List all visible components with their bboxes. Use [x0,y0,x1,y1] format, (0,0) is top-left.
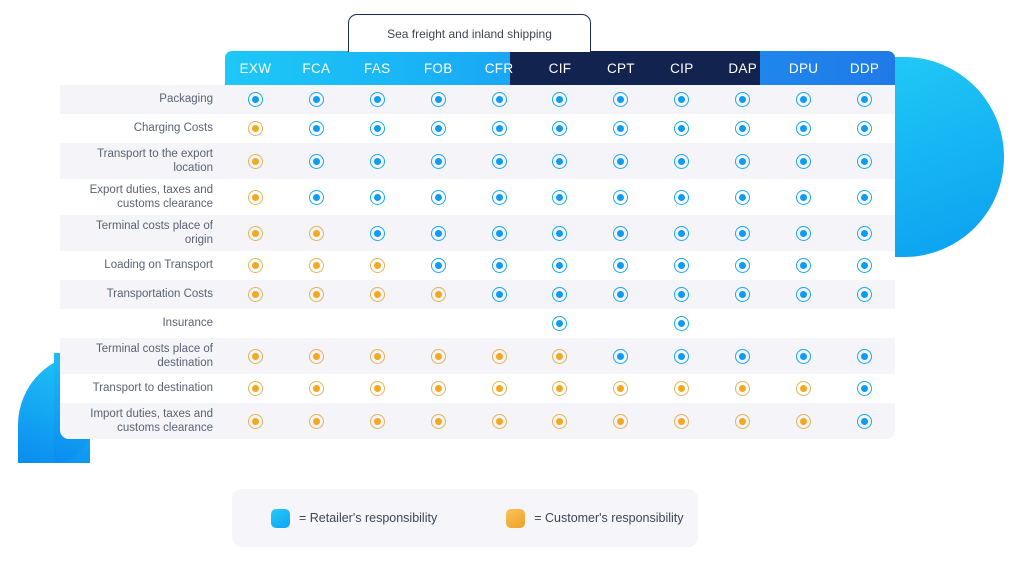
table-row: Packaging [60,85,895,114]
retailer-dot-icon [370,92,385,107]
retailer-dot-icon [552,154,567,169]
responsibility-table: EXWFCAFASFOBCFRCIFCPTCIPDAPDPUDDP Packag… [60,51,895,439]
row-cells [225,143,895,179]
legend-customer-label: = Customer's responsibility [534,511,683,525]
customer-dot-icon [552,349,567,364]
cell-fca [286,114,347,143]
retailer-dot-icon [248,92,263,107]
column-header-cif[interactable]: CIF [530,51,591,85]
cell-cif [530,143,591,179]
cell-cip [651,215,712,251]
retailer-dot-icon [552,92,567,107]
row-cells [225,85,895,114]
retailer-dot-icon [674,92,689,107]
customer-dot-icon [248,414,263,429]
retailer-dot-icon [552,287,567,302]
retailer-dot-icon [431,190,446,205]
retailer-dot-icon [552,226,567,241]
cell-dap [712,85,773,114]
retailer-dot-icon [857,190,872,205]
customer-dot-icon [735,414,750,429]
table-body: PackagingCharging CostsTransport to the … [60,85,895,439]
retailer-dot-icon [492,154,507,169]
cell-fca [286,338,347,374]
legend-item-customer: = Customer's responsibility [506,509,683,528]
customer-dot-icon [796,381,811,396]
retailer-dot-icon [857,121,872,136]
cell-fas [347,374,408,403]
column-header-cip[interactable]: CIP [651,51,712,85]
cell-fas [347,143,408,179]
customer-dot-icon [248,349,263,364]
cell-fob [408,85,469,114]
cell-cfr [469,309,530,338]
legend-retailer-label: = Retailer's responsibility [299,511,437,525]
cell-dpu [773,309,834,338]
cell-fas [347,114,408,143]
retailer-dot-icon [674,121,689,136]
cell-fca [286,179,347,215]
cell-ddp [834,114,895,143]
retailer-dot-icon [492,226,507,241]
retailer-dot-icon [492,92,507,107]
cell-cif [530,309,591,338]
retailer-dot-icon [857,258,872,273]
table-row: Insurance [60,309,895,338]
row-cells [225,280,895,309]
cell-cif [530,114,591,143]
cell-fas [347,309,408,338]
row-label: Terminal costs place of origin [60,215,225,251]
cell-dap [712,309,773,338]
retailer-dot-icon [370,154,385,169]
retailer-dot-icon [492,190,507,205]
cell-fob [408,215,469,251]
cell-dpu [773,85,834,114]
column-header-fca[interactable]: FCA [286,51,347,85]
cell-cpt [590,338,651,374]
cell-cif [530,215,591,251]
retailer-dot-icon [735,190,750,205]
cell-fob [408,280,469,309]
table-header-row: EXWFCAFASFOBCFRCIFCPTCIPDAPDPUDDP [60,51,895,85]
customer-dot-icon [492,349,507,364]
cell-cpt [590,143,651,179]
retailer-dot-icon [431,154,446,169]
row-label: Loading on Transport [60,251,225,280]
customer-dot-icon [309,258,324,273]
retailer-dot-icon [552,258,567,273]
customer-dot-icon [431,287,446,302]
cell-cpt [590,280,651,309]
customer-dot-icon [431,349,446,364]
cell-fca [286,280,347,309]
customer-dot-icon [492,414,507,429]
row-label: Export duties, taxes and customs clearan… [60,179,225,215]
cell-cip [651,280,712,309]
cell-fas [347,251,408,280]
cell-dap [712,338,773,374]
retailer-dot-icon [735,258,750,273]
cell-fob [408,114,469,143]
retailer-dot-icon [857,287,872,302]
retailer-dot-icon [735,121,750,136]
retailer-dot-icon [857,92,872,107]
retailer-dot-icon [613,226,628,241]
cell-cif [530,403,591,439]
cell-cip [651,251,712,280]
retailer-dot-icon [857,381,872,396]
row-label: Transport to the export location [60,143,225,179]
cell-ddp [834,280,895,309]
sea-freight-callout-label: Sea freight and inland shipping [387,27,552,41]
row-label: Transport to destination [60,374,225,403]
cell-dap [712,403,773,439]
row-label: Import duties, taxes and customs clearan… [60,403,225,439]
cell-cfr [469,215,530,251]
column-header-ddp[interactable]: DDP [834,51,895,85]
table-row: Export duties, taxes and customs clearan… [60,179,895,215]
cell-exw [225,85,286,114]
table-row: Terminal costs place of origin [60,215,895,251]
row-cells [225,215,895,251]
cell-cpt [590,114,651,143]
cell-cfr [469,179,530,215]
cell-exw [225,215,286,251]
retailer-dot-icon [674,349,689,364]
retailer-dot-icon [613,121,628,136]
cell-exw [225,179,286,215]
cell-dap [712,179,773,215]
cell-exw [225,251,286,280]
column-header-cpt[interactable]: CPT [590,51,651,85]
cell-cip [651,309,712,338]
cell-exw [225,338,286,374]
cell-dap [712,374,773,403]
cell-fob [408,338,469,374]
column-header-fas[interactable]: FAS [347,51,408,85]
customer-dot-icon [431,414,446,429]
cell-cif [530,179,591,215]
cell-ddp [834,251,895,280]
cell-fas [347,403,408,439]
cell-fob [408,179,469,215]
customer-dot-icon [796,414,811,429]
retailer-dot-icon [735,154,750,169]
cell-cpt [590,215,651,251]
cell-cip [651,374,712,403]
cell-dap [712,114,773,143]
row-cells [225,338,895,374]
customer-dot-icon [552,414,567,429]
retailer-dot-icon [674,287,689,302]
cell-cip [651,179,712,215]
customer-dot-icon [370,381,385,396]
table-row: Transport to the export location [60,143,895,179]
cell-cfr [469,403,530,439]
customer-dot-icon [370,414,385,429]
cell-dap [712,215,773,251]
table-row: Loading on Transport [60,251,895,280]
cell-fob [408,403,469,439]
retailer-dot-icon [370,121,385,136]
cell-ddp [834,179,895,215]
row-cells [225,374,895,403]
cell-cpt [590,179,651,215]
retailer-dot-icon [857,154,872,169]
cell-cfr [469,251,530,280]
row-cells [225,179,895,215]
cell-cfr [469,374,530,403]
cell-cfr [469,338,530,374]
customer-dot-icon [431,381,446,396]
cell-dap [712,280,773,309]
cell-fob [408,309,469,338]
legend: = Retailer's responsibility = Customer's… [232,489,698,547]
retailer-dot-icon [857,414,872,429]
cell-ddp [834,143,895,179]
row-cells [225,251,895,280]
cell-fca [286,309,347,338]
retailer-dot-icon [735,92,750,107]
column-header-fob[interactable]: FOB [408,51,469,85]
retailer-dot-icon [796,190,811,205]
table-row: Transportation Costs [60,280,895,309]
retailer-dot-icon [796,226,811,241]
retailer-dot-icon [309,92,324,107]
row-label: Transportation Costs [60,280,225,309]
cell-dpu [773,374,834,403]
retailer-dot-icon [735,287,750,302]
retailer-dot-icon [674,190,689,205]
cell-cif [530,280,591,309]
retailer-dot-icon [613,154,628,169]
cell-fob [408,374,469,403]
cell-ddp [834,85,895,114]
incoterm-header-bar: EXWFCAFASFOBCFRCIFCPTCIPDAPDPUDDP [225,51,895,85]
cell-cip [651,338,712,374]
customer-dot-icon [370,349,385,364]
retailer-dot-icon [674,258,689,273]
table-row: Terminal costs place of destination [60,338,895,374]
customer-dot-icon [309,381,324,396]
cell-fca [286,403,347,439]
retailer-dot-icon [552,121,567,136]
retailer-dot-icon [796,92,811,107]
row-label: Insurance [60,309,225,338]
column-header-cfr[interactable]: CFR [469,51,530,85]
cell-ddp [834,309,895,338]
customer-dot-icon [309,287,324,302]
header-label-spacer [60,51,225,85]
cell-cip [651,143,712,179]
retailer-dot-icon [796,349,811,364]
cell-cif [530,338,591,374]
row-label: Packaging [60,85,225,114]
retailer-dot-icon [431,258,446,273]
retailer-dot-icon [309,121,324,136]
customer-dot-icon [248,226,263,241]
cell-fca [286,143,347,179]
cell-exw [225,143,286,179]
cell-ddp [834,215,895,251]
row-label: Charging Costs [60,114,225,143]
customer-dot-icon [248,190,263,205]
retailer-dot-icon [309,190,324,205]
retailer-dot-icon [613,287,628,302]
cell-exw [225,280,286,309]
retailer-dot-icon [370,226,385,241]
cell-fas [347,280,408,309]
customer-dot-icon [552,381,567,396]
column-header-dap[interactable]: DAP [712,51,773,85]
customer-dot-icon [248,258,263,273]
retailer-dot-icon [492,258,507,273]
cell-exw [225,374,286,403]
cell-cif [530,251,591,280]
customer-dot-icon [370,258,385,273]
cell-exw [225,309,286,338]
customer-dot-icon [309,349,324,364]
cell-ddp [834,338,895,374]
cell-cfr [469,280,530,309]
retailer-dot-icon [796,154,811,169]
retailer-dot-icon [492,121,507,136]
cell-dpu [773,179,834,215]
retailer-dot-icon [613,349,628,364]
cell-exw [225,403,286,439]
retailer-dot-icon [552,190,567,205]
retailer-swatch-icon [271,509,290,528]
retailer-dot-icon [796,121,811,136]
cell-ddp [834,403,895,439]
retailer-dot-icon [735,226,750,241]
cell-fas [347,179,408,215]
retailer-dot-icon [613,258,628,273]
retailer-dot-icon [613,92,628,107]
retailer-dot-icon [674,316,689,331]
cell-fca [286,374,347,403]
cell-exw [225,114,286,143]
cell-cpt [590,374,651,403]
retailer-dot-icon [857,226,872,241]
row-cells [225,114,895,143]
retailer-dot-icon [857,349,872,364]
customer-dot-icon [613,414,628,429]
retailer-dot-icon [370,190,385,205]
customer-dot-icon [248,381,263,396]
customer-dot-icon [248,287,263,302]
table-row: Charging Costs [60,114,895,143]
cell-dpu [773,338,834,374]
retailer-dot-icon [674,154,689,169]
row-cells [225,309,895,338]
customer-dot-icon [735,381,750,396]
customer-dot-icon [492,381,507,396]
cell-fca [286,85,347,114]
cell-cip [651,85,712,114]
row-label: Terminal costs place of destination [60,338,225,374]
cell-fas [347,85,408,114]
cell-dpu [773,215,834,251]
cell-fob [408,143,469,179]
row-cells [225,403,895,439]
customer-dot-icon [248,121,263,136]
cell-cpt [590,251,651,280]
cell-cfr [469,85,530,114]
cell-fas [347,338,408,374]
cell-fca [286,251,347,280]
retailer-dot-icon [492,287,507,302]
cell-fob [408,251,469,280]
decorative-blob-right [892,57,1004,257]
retailer-dot-icon [431,121,446,136]
cell-dpu [773,143,834,179]
retailer-dot-icon [796,258,811,273]
customer-dot-icon [309,414,324,429]
column-header-exw[interactable]: EXW [225,51,286,85]
retailer-dot-icon [431,92,446,107]
legend-item-retailer: = Retailer's responsibility [271,509,437,528]
cell-cpt [590,309,651,338]
customer-dot-icon [309,226,324,241]
cell-fas [347,215,408,251]
cell-cfr [469,114,530,143]
customer-dot-icon [248,154,263,169]
cell-cif [530,374,591,403]
retailer-dot-icon [309,154,324,169]
cell-cif [530,85,591,114]
cell-fca [286,215,347,251]
retailer-dot-icon [552,316,567,331]
cell-dpu [773,114,834,143]
retailer-dot-icon [613,190,628,205]
cell-dpu [773,403,834,439]
customer-swatch-icon [506,509,525,528]
incoterms-chart: Sea freight and inland shipping EXWFCAFA… [0,0,1024,567]
customer-dot-icon [613,381,628,396]
retailer-dot-icon [674,226,689,241]
retailer-dot-icon [796,287,811,302]
cell-cpt [590,85,651,114]
retailer-dot-icon [735,349,750,364]
sea-freight-callout: Sea freight and inland shipping [348,14,591,52]
retailer-dot-icon [431,226,446,241]
table-row: Transport to destination [60,374,895,403]
table-row: Import duties, taxes and customs clearan… [60,403,895,439]
cell-cip [651,114,712,143]
customer-dot-icon [370,287,385,302]
cell-dpu [773,280,834,309]
cell-cfr [469,143,530,179]
cell-cip [651,403,712,439]
customer-dot-icon [674,381,689,396]
column-header-dpu[interactable]: DPU [773,51,834,85]
cell-ddp [834,374,895,403]
cell-dap [712,251,773,280]
cell-cpt [590,403,651,439]
customer-dot-icon [674,414,689,429]
cell-dap [712,143,773,179]
cell-dpu [773,251,834,280]
